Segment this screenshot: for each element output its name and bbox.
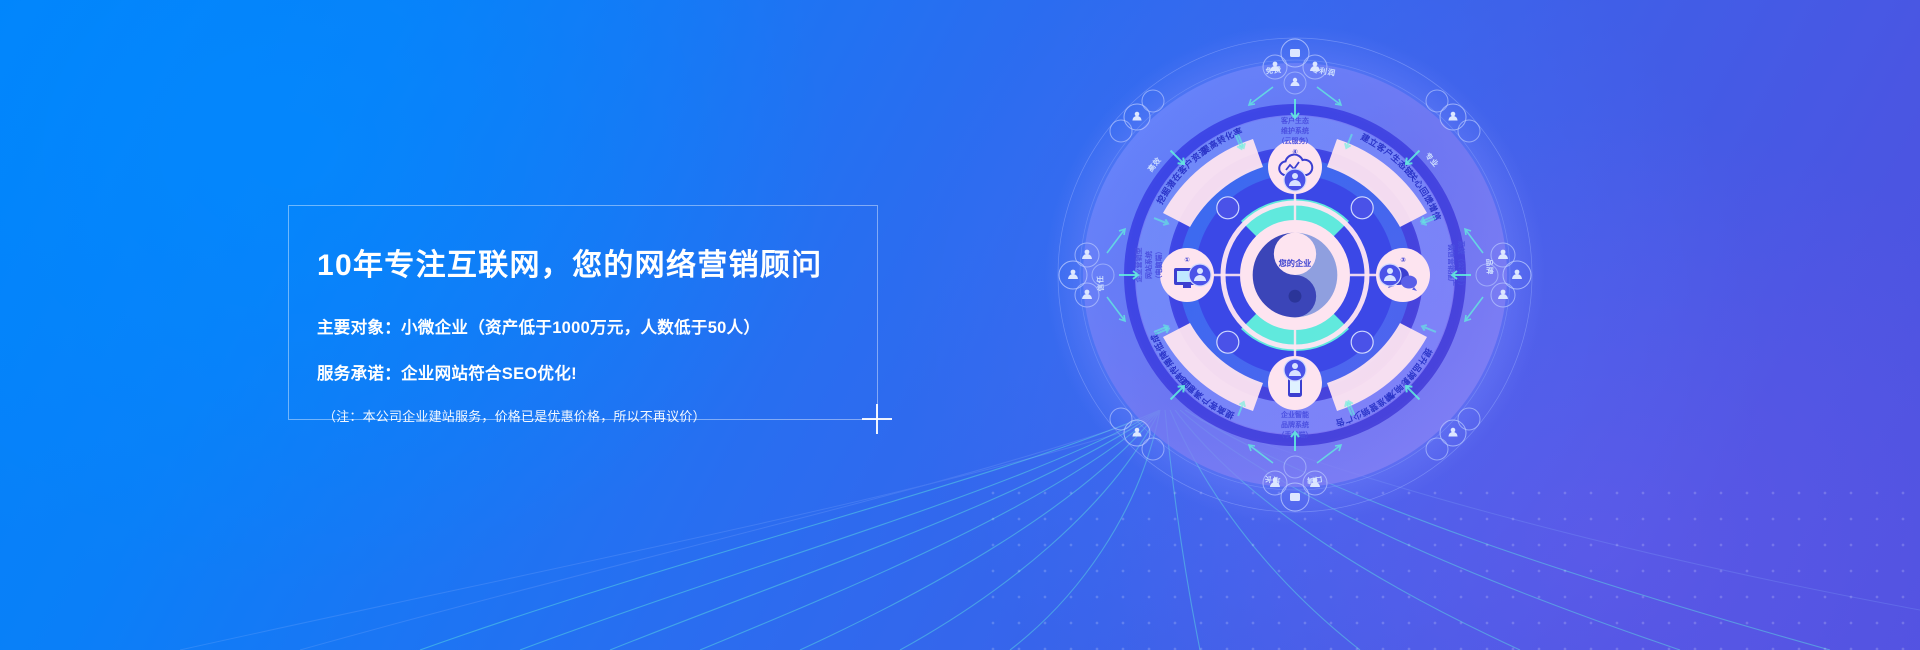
plus-marker-icon (862, 404, 892, 434)
node-number-1: ① (1184, 257, 1190, 264)
node-2-label-2: 品牌系统 (1281, 420, 1309, 429)
hero-banner: 10年专注互联网，您的网络营销顾问 主要对象：小微企业（资产低于1000万元，人… (0, 0, 1920, 650)
node-4-label-3: （云服务） (1278, 136, 1313, 145)
center-label: 您的企业 (1279, 258, 1312, 268)
node-4-label-2: 维护系统 (1281, 126, 1309, 135)
target-audience-line: 主要对象：小微企业（资产低于1000万元，人数低于50人） (317, 314, 877, 338)
node-1-label-3: （电脑端） (1154, 248, 1163, 283)
pricing-note: （注：本公司企业建站服务，价格已是优惠价格，所以不再议价） (323, 406, 877, 425)
yin-yang-icon (1253, 233, 1338, 318)
node-3-label-1: 微信营销推广 (1447, 243, 1456, 286)
person-node-icon[interactable] (1284, 359, 1306, 381)
center-core: 您的企业 (1240, 220, 1350, 330)
ecosystem-infographic: 您的企业 ④ 客户生态 维护系统 （云服务） ① (1035, 15, 1555, 535)
person-node-icon[interactable] (1189, 264, 1211, 286)
person-node-icon[interactable] (1379, 264, 1401, 286)
background-fan-lines (0, 410, 1920, 650)
service-promise-line: 服务承诺：企业网站符合SEO优化! (317, 360, 877, 384)
node-1-label-2: 网站系统 (1144, 251, 1153, 279)
person-node-icon[interactable] (1284, 169, 1306, 191)
node-3-label-2: 系统（公众号） (1457, 241, 1466, 290)
promo-text-panel: 10年专注互联网，您的网络营销顾问 主要对象：小微企业（资产低于1000万元，人… (288, 205, 878, 420)
node-number-3: ③ (1400, 257, 1406, 264)
node-2-label-1: 企业智能 (1280, 410, 1309, 419)
page-title: 10年专注互联网，您的网络营销顾问 (317, 248, 877, 284)
